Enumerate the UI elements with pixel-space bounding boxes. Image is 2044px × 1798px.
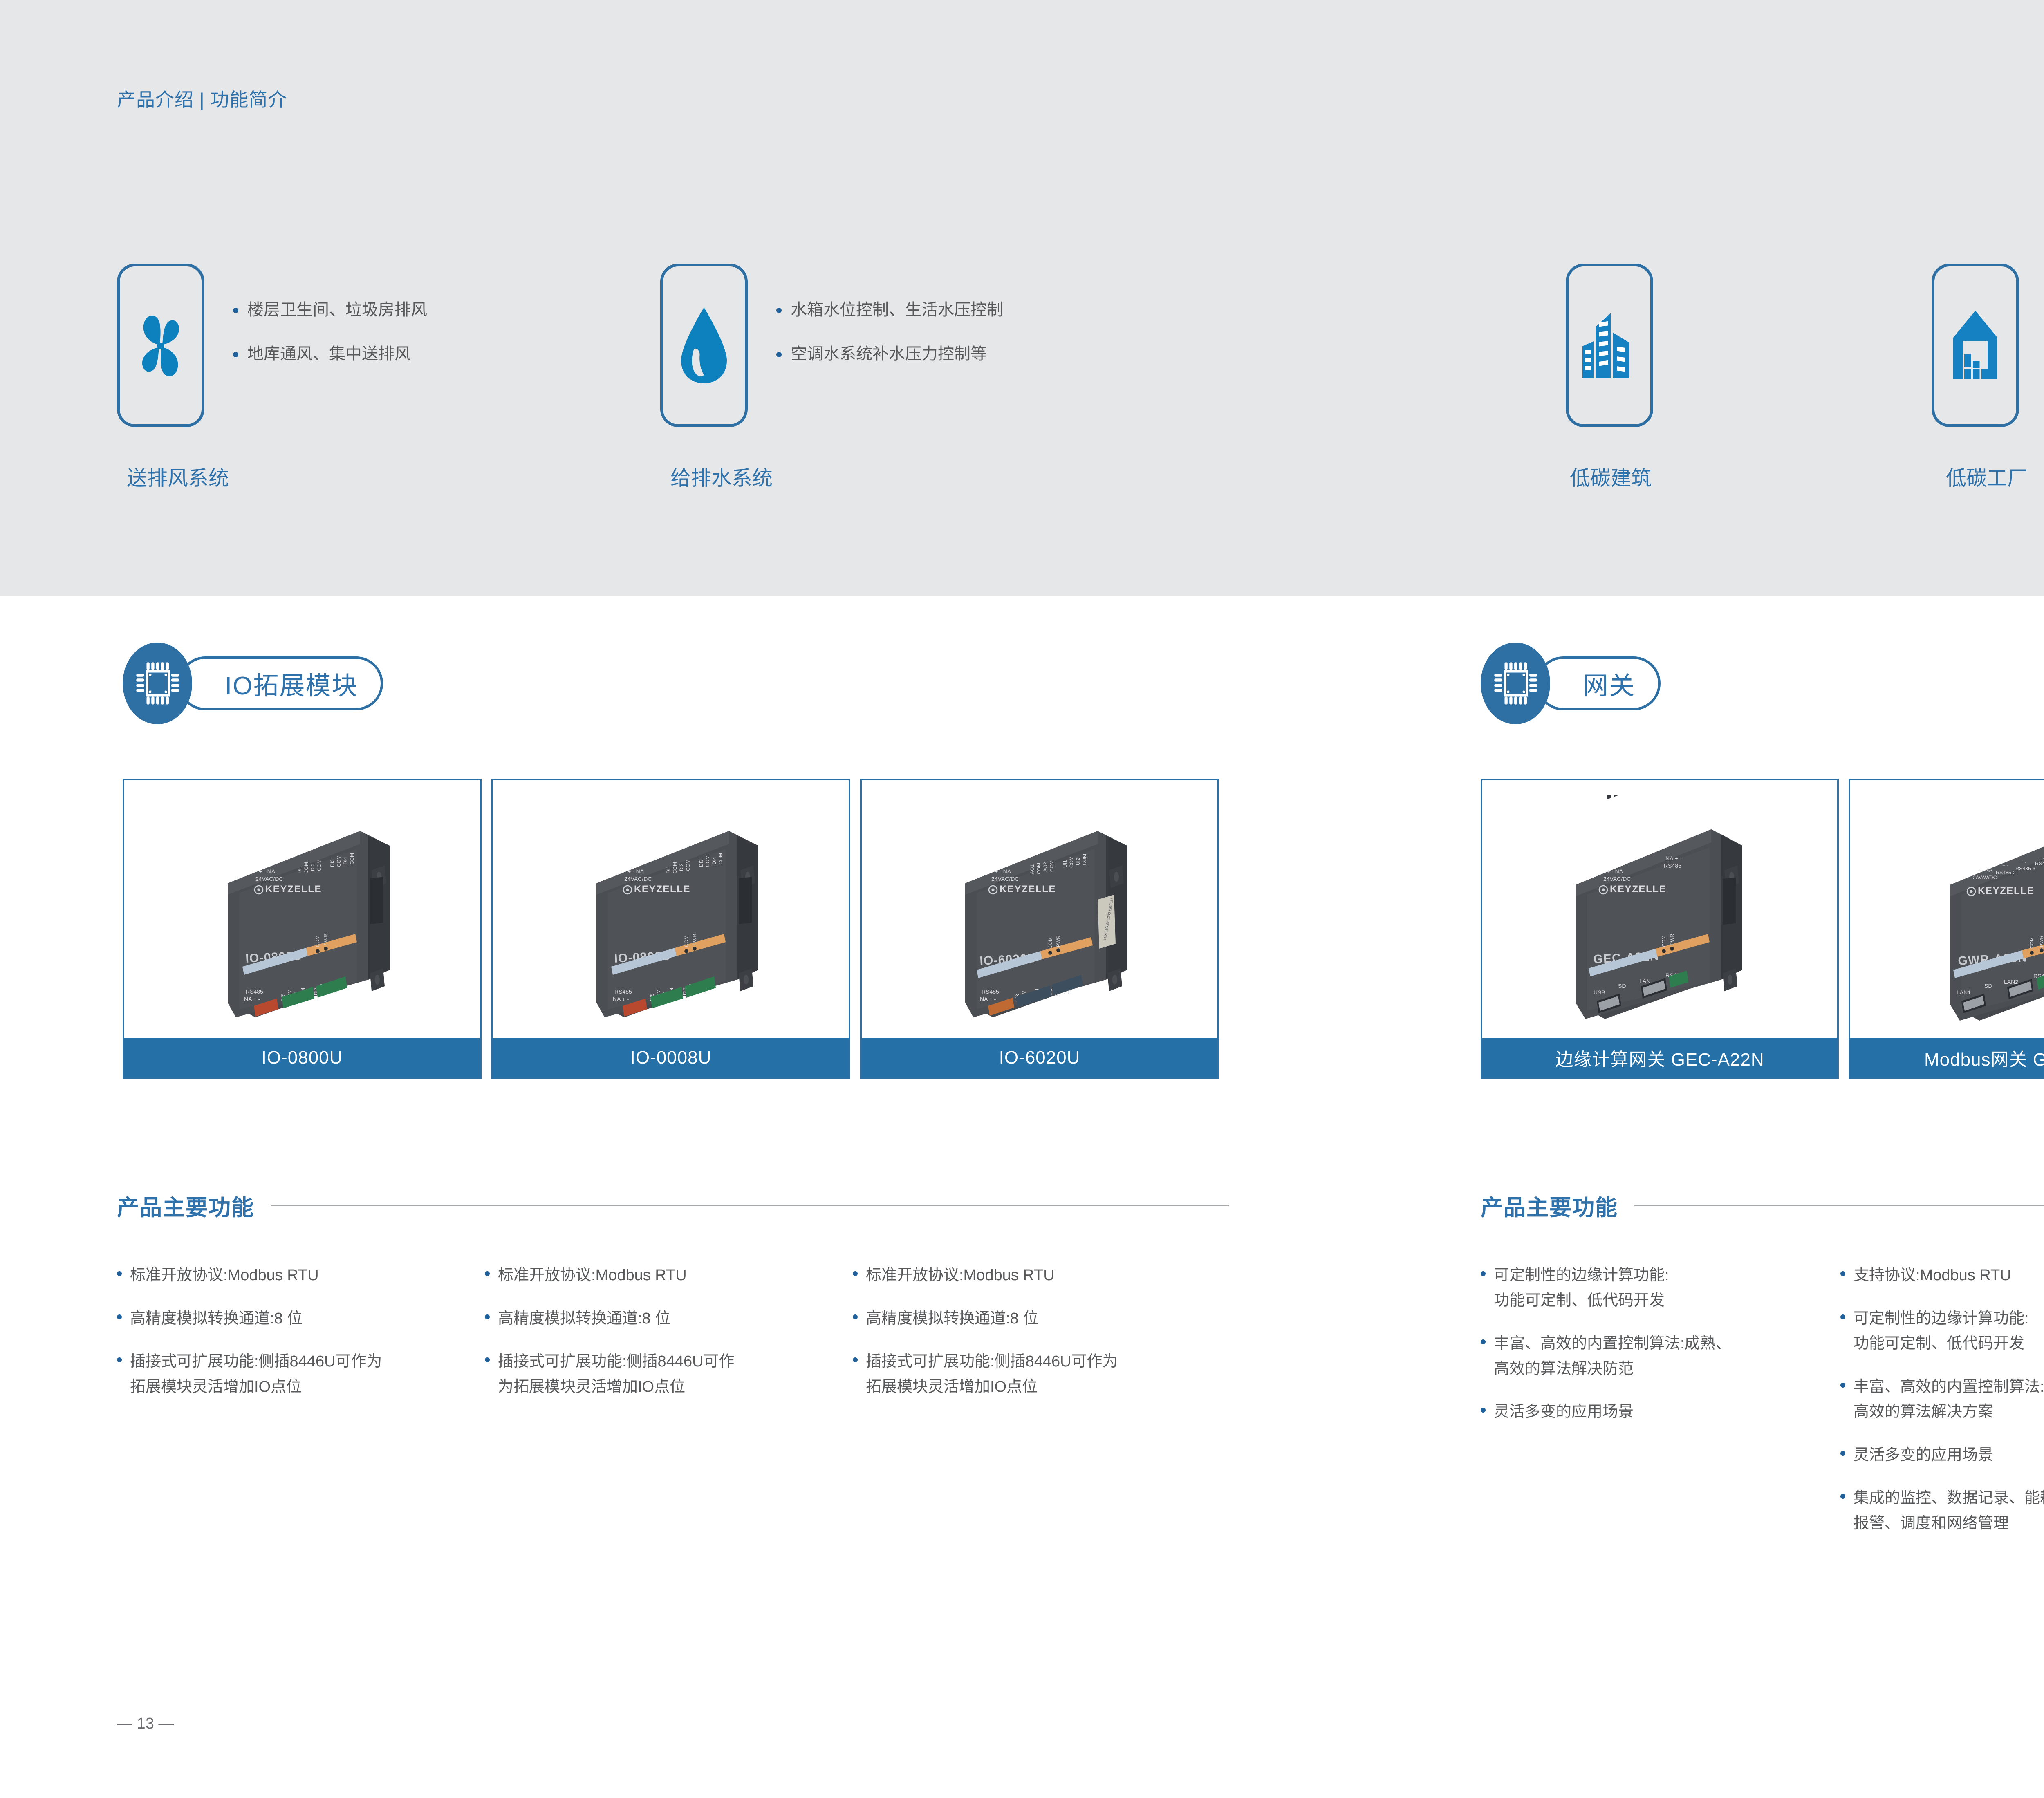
- svg-text:2AVAV/DC: 2AVAV/DC: [1973, 875, 1997, 880]
- chip-icon: [1481, 643, 1550, 724]
- product-caption: IO-0008U: [493, 1038, 849, 1077]
- io-section-title: IO拓展模块: [225, 665, 358, 702]
- page-number-left: — 13 —: [117, 1715, 174, 1733]
- gateway-feature-columns: 可定制性的边缘计算功能: 功能可定制、低代码开发 丰富、高效的内置控制算法:成熟…: [1481, 1263, 2044, 1554]
- svg-text:COM: COM: [336, 855, 342, 867]
- svg-text:COM: COM: [1049, 860, 1055, 872]
- svg-text:RS485-3: RS485-3: [2015, 866, 2035, 871]
- bullet-dot: [485, 1271, 490, 1276]
- svg-text:DI3: DI3: [698, 859, 704, 867]
- application-group-ventilation: 楼层卫生间、垃圾房排风 地库通风、集中送排风: [117, 264, 427, 427]
- bullet-item: 地库通风、集中送排风: [233, 343, 427, 365]
- svg-text:KEYZELLE: KEYZELLE: [1610, 884, 1666, 895]
- svg-text:COM: COM: [315, 936, 320, 947]
- svg-text:AO1: AO1: [1029, 864, 1035, 874]
- gateway-section-pill: 网关: [1536, 656, 1661, 710]
- svg-text:KEYZELLE: KEYZELLE: [265, 884, 322, 895]
- feature-column: 可定制性的边缘计算功能: 功能可定制、低代码开发 丰富、高效的内置控制算法:成熟…: [1481, 1263, 1840, 1554]
- water-caption: 给排水系统: [670, 462, 773, 491]
- svg-text:RS485: RS485: [614, 988, 632, 995]
- svg-text:COM: COM: [1036, 863, 1042, 874]
- svg-text:RS485-2: RS485-2: [1996, 870, 2016, 875]
- feature-item: 高精度模拟转换通道:8 位: [485, 1306, 853, 1332]
- ventilation-caption: 送排风系统: [127, 462, 229, 491]
- application-group-water: 水箱水位控制、生活水压控制 空调水系统补水压力控制等: [660, 264, 1003, 427]
- bullet-item: 空调水系统补水压力控制等: [776, 343, 1003, 365]
- feature-item: 集成的监控、数据记录、能耗计量、 报警、调度和网络管理: [1840, 1486, 2044, 1536]
- svg-text:UI1: UI1: [1062, 860, 1068, 868]
- svg-text:KEYZELLE: KEYZELLE: [1000, 884, 1056, 895]
- bullet-dot: [853, 1357, 858, 1362]
- svg-text:PWR: PWR: [692, 934, 697, 945]
- product-caption: IO-6020U: [862, 1038, 1217, 1077]
- section-io-modules: IO拓展模块: [123, 643, 1226, 724]
- bullet-dot: [117, 1314, 122, 1319]
- product-image-io-0800u: + - NA 24VAC/DC DI1 COM DI2 COM DI3 COM …: [124, 780, 480, 1038]
- bullet-dot: [776, 352, 782, 357]
- feature-item: 灵活多变的应用场景: [1481, 1399, 1840, 1425]
- product-image-gec-a22n: + - NA 24VAC/DC NA + - RS485 KEYZELLE GE…: [1482, 780, 1837, 1038]
- bullet-item: 水箱水位控制、生活水压控制: [776, 299, 1003, 321]
- water-bullets: 水箱水位控制、生活水压控制 空调水系统补水压力控制等: [776, 264, 1003, 387]
- svg-text:COM: COM: [684, 936, 689, 947]
- svg-text:SD: SD: [1618, 983, 1626, 989]
- product-image-gwr-a25n: + - NA + - + - + - + - 2AVAV/DC RS485-2 …: [1850, 780, 2044, 1038]
- feature-item: 支持协议:Modbus RTU: [1840, 1263, 2044, 1288]
- bullet-dot: [485, 1314, 490, 1319]
- svg-text:DI2: DI2: [679, 863, 684, 871]
- feature-item: 高精度模拟转换通道:8 位: [117, 1306, 485, 1332]
- svg-text:RS485: RS485: [1664, 862, 1681, 869]
- bullet-dot: [1840, 1314, 1845, 1319]
- svg-text:COM: COM: [349, 853, 355, 864]
- feature-item: 高精度模拟转换通道:8 位: [853, 1306, 1221, 1332]
- product-card[interactable]: + - NA 24VAC/DC AO1 COM AO2 COM UI1 COM …: [860, 779, 1219, 1079]
- divider-rule: [1634, 1205, 2044, 1206]
- svg-text:PWR: PWR: [323, 934, 329, 945]
- bullet-dot: [1840, 1451, 1845, 1456]
- divider-rule: [271, 1205, 1229, 1206]
- feature-item: 可定制性的边缘计算功能: 功能可定制、低代码开发: [1840, 1306, 2044, 1357]
- product-image-io-0008u: + - NA 24VAC/DC DI1 COM DI2 COM DI3 COM …: [493, 780, 849, 1038]
- svg-text:COM: COM: [672, 862, 678, 873]
- io-product-cards: + - NA 24VAC/DC DI1 COM DI2 COM DI3 COM …: [123, 779, 1219, 1079]
- svg-text:UI2: UI2: [1075, 858, 1081, 865]
- svg-text:NA + -: NA + -: [244, 996, 260, 1002]
- water-drop-icon: [675, 305, 733, 386]
- svg-text:DI4: DI4: [711, 857, 717, 864]
- brochure-page: 产品介绍 | 功能简介 产品介绍 | 功能简介 楼层卫生间、垃圾房排风 地库通风…: [0, 0, 2044, 1798]
- product-image-io-6020u: + - NA 24VAC/DC AO1 COM AO2 COM UI1 COM …: [862, 780, 1217, 1038]
- svg-text:AO2: AO2: [1042, 862, 1048, 871]
- feature-item: 标准开放协议:Modbus RTU: [117, 1263, 485, 1288]
- svg-text:+ - NA: + - NA: [628, 868, 644, 875]
- svg-text:LAN: LAN: [1639, 978, 1650, 984]
- bullet-dot: [776, 308, 782, 313]
- svg-text:NA + -: NA + -: [980, 996, 996, 1002]
- io-feature-columns: 标准开放协议:Modbus RTU 高精度模拟转换通道:8 位 插接式可扩展功能…: [117, 1263, 1221, 1417]
- chip-icon: [123, 643, 192, 724]
- bullet-dot: [485, 1357, 490, 1362]
- svg-text:COM: COM: [303, 862, 309, 873]
- svg-text:24VAC/DC: 24VAC/DC: [1603, 875, 1631, 882]
- office-building-icon: [1579, 306, 1640, 385]
- ventilation-bullets: 楼层卫生间、垃圾房排风 地库通风、集中送排风: [233, 264, 427, 387]
- product-card[interactable]: + - NA 24VAC/DC DI1 COM DI2 COM DI3 COM …: [123, 779, 482, 1079]
- feature-item: 标准开放协议:Modbus RTU: [853, 1263, 1221, 1288]
- feature-item: 标准开放协议:Modbus RTU: [485, 1263, 853, 1288]
- bullet-dot: [1840, 1494, 1845, 1499]
- product-card[interactable]: + - NA 24VAC/DC DI1 COM DI2 COM DI3 COM …: [491, 779, 850, 1079]
- feature-item: 插接式可扩展功能:侧插8446U可作 为拓展模块灵活增加IO点位: [485, 1349, 853, 1399]
- io-features-header: 产品主要功能: [117, 1189, 1229, 1222]
- bullet-dot: [117, 1271, 122, 1276]
- svg-text:RS485-4: RS485-4: [2035, 861, 2044, 867]
- feature-column: 标准开放协议:Modbus RTU 高精度模拟转换通道:8 位 插接式可扩展功能…: [117, 1263, 485, 1417]
- bullet-dot: [853, 1271, 858, 1276]
- svg-text:RS485: RS485: [982, 988, 999, 995]
- feature-item: 灵活多变的应用场景: [1840, 1443, 2044, 1468]
- svg-text:DI1: DI1: [297, 866, 303, 873]
- io-section-pill: IO拓展模块: [178, 656, 383, 710]
- svg-text:+ -: + -: [2038, 855, 2044, 861]
- gateway-section-badge: 网关: [1481, 643, 2044, 724]
- svg-text:COM: COM: [685, 860, 691, 871]
- bullet-dot: [853, 1314, 858, 1319]
- feature-item: 丰富、高效的内置控制算法:成熟、 高效的算法解决防范: [1481, 1331, 1840, 1382]
- gateway-section-title: 网关: [1583, 665, 1635, 702]
- svg-text:24VAC/DC: 24VAC/DC: [624, 875, 652, 882]
- bullet-dot: [1481, 1339, 1486, 1344]
- bullet-dot: [1840, 1271, 1845, 1276]
- io-features-title: 产品主要功能: [117, 1189, 254, 1222]
- feature-column: 标准开放协议:Modbus RTU 高精度模拟转换通道:8 位 插接式可扩展功能…: [485, 1263, 853, 1417]
- bullet-item: 楼层卫生间、垃圾房排风: [233, 299, 427, 321]
- svg-text:24VAC/DC: 24VAC/DC: [991, 875, 1019, 882]
- bullet-dot: [1481, 1408, 1486, 1413]
- svg-text:SD: SD: [1984, 983, 1992, 989]
- svg-text:DI2: DI2: [310, 863, 316, 871]
- low-carbon-building-caption: 低碳建筑: [1570, 462, 1652, 491]
- svg-text:+ -: + -: [2002, 862, 2008, 868]
- svg-text:PWR: PWR: [1669, 934, 1675, 945]
- gateway-features-header: 产品主要功能: [1481, 1189, 2044, 1222]
- svg-text:DI4: DI4: [343, 857, 348, 864]
- svg-text:DI1: DI1: [666, 866, 671, 873]
- svg-text:COM: COM: [1047, 937, 1053, 949]
- svg-text:LAN2: LAN2: [2004, 978, 2018, 985]
- bullet-dot: [117, 1357, 122, 1362]
- feature-item: 丰富、高效的内置控制算法:成熟、 高效的算法解决方案: [1840, 1375, 2044, 1425]
- svg-text:RS485: RS485: [246, 988, 263, 995]
- product-card[interactable]: + - NA 24VAC/DC NA + - RS485 KEYZELLE GE…: [1481, 779, 1839, 1079]
- product-card[interactable]: + - NA + - + - + - + - 2AVAV/DC RS485-2 …: [1849, 779, 2044, 1079]
- svg-text:+ - NA: + - NA: [1607, 868, 1623, 875]
- product-caption: 边缘计算网关 GEC-A22N: [1482, 1038, 1837, 1077]
- bullet-dot: [233, 308, 238, 313]
- svg-text:+ - NA: + - NA: [259, 868, 276, 875]
- svg-text:KEYZELLE: KEYZELLE: [1978, 885, 2034, 896]
- svg-text:24VAC/DC: 24VAC/DC: [255, 875, 283, 882]
- water-icon-tile: [660, 264, 748, 427]
- feature-column: 支持协议:Modbus RTU 可定制性的边缘计算功能: 功能可定制、低代码开发…: [1840, 1263, 2044, 1554]
- svg-text:COM: COM: [316, 860, 322, 871]
- svg-text:COM: COM: [718, 853, 724, 864]
- fan-icon: [130, 307, 191, 384]
- feature-item: 可定制性的边缘计算功能: 功能可定制、低代码开发: [1481, 1263, 1840, 1313]
- running-head-left: 产品介绍 | 功能简介: [117, 85, 287, 112]
- gateway-product-cards: + - NA 24VAC/DC NA + - RS485 KEYZELLE GE…: [1481, 779, 2044, 1079]
- feature-item: 插接式可扩展功能:侧插8446U可作为 拓展模块灵活增加IO点位: [853, 1349, 1221, 1399]
- svg-text:PWR: PWR: [1056, 935, 1061, 947]
- svg-text:+ - NA: + - NA: [995, 868, 1011, 875]
- svg-text:PWR: PWR: [2039, 935, 2044, 947]
- svg-text:LAN1: LAN1: [1957, 989, 1971, 996]
- low-carbon-factory-caption: 低碳工厂: [1946, 462, 2028, 491]
- svg-text:NA + -: NA + -: [1665, 855, 1682, 862]
- svg-text:COM: COM: [1661, 936, 1667, 947]
- bullet-dot: [1840, 1383, 1845, 1388]
- bullet-dot: [1481, 1271, 1486, 1276]
- gateway-features-title: 产品主要功能: [1481, 1189, 1618, 1222]
- svg-text:COM: COM: [705, 855, 710, 867]
- section-gateways: 网关: [1481, 643, 2044, 724]
- low-carbon-building-tile: [1566, 264, 1653, 427]
- product-caption: IO-0800U: [124, 1038, 480, 1077]
- svg-text:KEYZELLE: KEYZELLE: [634, 884, 690, 895]
- feature-column: 标准开放协议:Modbus RTU 高精度模拟转换通道:8 位 插接式可扩展功能…: [853, 1263, 1221, 1417]
- svg-text:+ - NA: + - NA: [1978, 867, 1992, 873]
- svg-text:COM: COM: [1069, 856, 1074, 868]
- io-section-badge: IO拓展模块: [123, 643, 1226, 724]
- svg-text:COM: COM: [2029, 937, 2035, 949]
- svg-text:DI3: DI3: [329, 859, 335, 867]
- svg-text:USB: USB: [1594, 989, 1605, 996]
- svg-text:+ -: + -: [2020, 859, 2026, 865]
- svg-text:NA + -: NA + -: [613, 996, 629, 1002]
- factory-icon: [1945, 306, 2006, 385]
- ventilation-icon-tile: [117, 264, 204, 427]
- svg-text:COM: COM: [1082, 854, 1087, 865]
- bullet-dot: [233, 352, 238, 357]
- low-carbon-factory-tile: [1932, 264, 2019, 427]
- feature-item: 插接式可扩展功能:侧插8446U可作为 拓展模块灵活增加IO点位: [117, 1349, 485, 1399]
- product-caption: Modbus网关 GWR-A25N: [1850, 1038, 2044, 1077]
